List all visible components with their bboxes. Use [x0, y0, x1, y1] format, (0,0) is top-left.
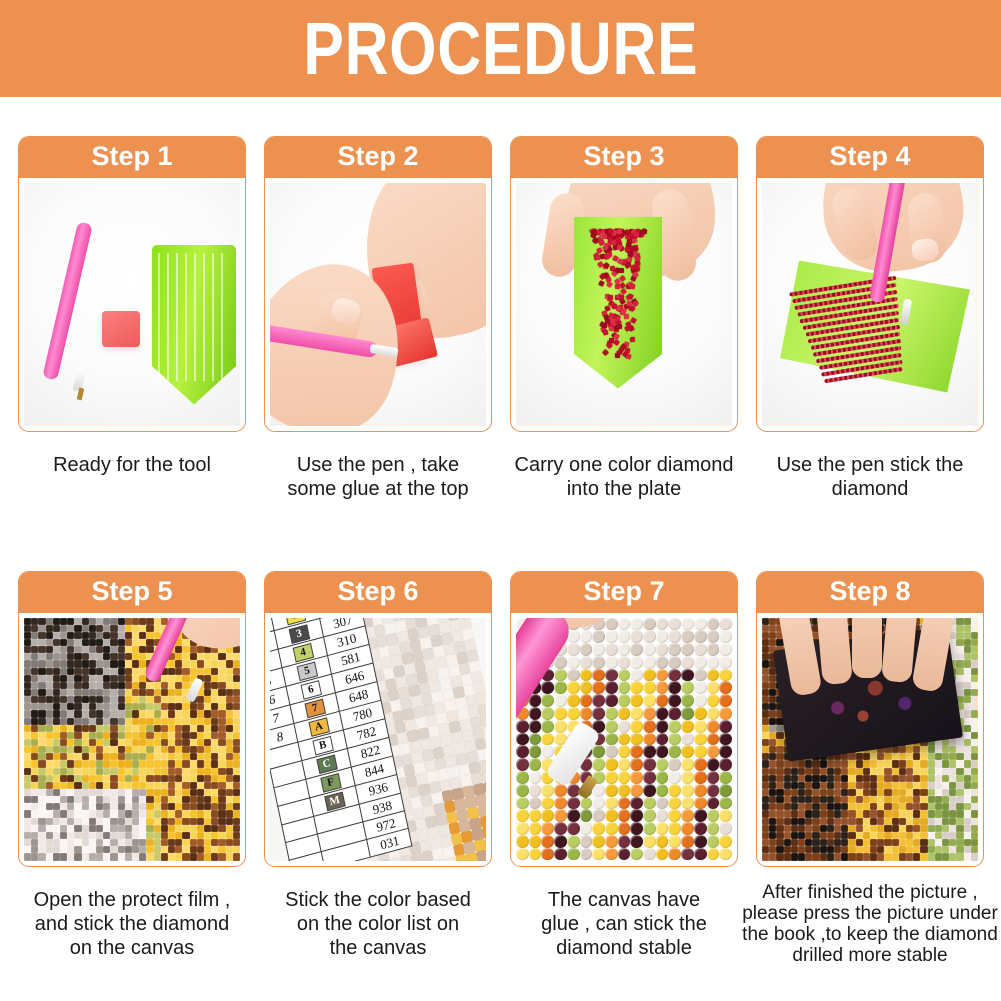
step-cell-1: Step 1 Ready for the tool	[18, 136, 246, 501]
step-label-2: Step 2	[337, 143, 418, 170]
step-cell-8: Step 8 After finished the picture , plea…	[756, 571, 984, 967]
step-label-7: Step 7	[583, 578, 664, 605]
step-photo-4	[762, 183, 978, 426]
step-label-4: Step 4	[829, 143, 910, 170]
step-card-5[interactable]: Step 5	[18, 571, 246, 867]
step-card-header-1: Step 1	[18, 136, 246, 178]
step-cell-4: Step 4 Use the pen stick the diamo	[756, 136, 984, 501]
step-cell-6: Step 6 No.SymbolDMC112230033307443105558…	[264, 571, 492, 967]
step-photo-7	[516, 618, 732, 861]
step-card-header-8: Step 8	[756, 571, 984, 613]
step-caption-1: Ready for the tool	[18, 453, 246, 477]
step-caption-2: Use the pen , take some glue at the top	[264, 453, 492, 502]
step-card-4[interactable]: Step 4	[756, 136, 984, 432]
step-card-header-2: Step 2	[264, 136, 492, 178]
procedure-infographic: PROCEDURE Step 1 Ready for	[0, 0, 1001, 1001]
step-photo-1	[24, 183, 240, 426]
page-title: PROCEDURE	[303, 12, 698, 86]
drill-rows-icon	[784, 263, 949, 395]
step-label-6: Step 6	[337, 578, 418, 605]
step-caption-4: Use the pen stick the diamond	[756, 453, 984, 502]
red-drills-icon	[582, 229, 652, 365]
glue-square-icon	[102, 311, 140, 347]
step-card-header-5: Step 5	[18, 571, 246, 613]
step-label-1: Step 1	[91, 143, 172, 170]
step-label-5: Step 5	[91, 578, 172, 605]
step-card-header-4: Step 4	[756, 136, 984, 178]
step-photo-6: No.SymbolDMC1122300333074431055581666467…	[270, 618, 486, 861]
step-photo-2	[270, 183, 486, 426]
step-cell-5: Step 5 Open the protect film , and stick…	[18, 571, 246, 967]
step-label-3: Step 3	[583, 143, 664, 170]
step-label-8: Step 8	[829, 578, 910, 605]
page-header: PROCEDURE	[0, 0, 1001, 97]
step-cell-3: Step 3 Carry one color diamond into the …	[510, 136, 738, 501]
step-caption-6: Stick the color based on the color list …	[264, 888, 492, 961]
step-caption-8: After finished the picture , please pres…	[740, 882, 1000, 967]
steps-row-bottom: Step 5 Open the protect film , and stick…	[0, 571, 1001, 967]
step-cell-2: Step 2 U	[264, 136, 492, 501]
steps-row-top: Step 1 Ready for the tool Step	[0, 136, 1001, 501]
diamond-canvas-icon	[24, 618, 240, 861]
step-photo-3	[516, 183, 732, 426]
step-card-8[interactable]: Step 8	[756, 571, 984, 867]
step-photo-8	[762, 618, 978, 861]
step-card-6[interactable]: Step 6 No.SymbolDMC112230033307443105558…	[264, 571, 492, 867]
step-card-7[interactable]: Step 7	[510, 571, 738, 867]
step-caption-5: Open the protect film , and stick the di…	[18, 888, 246, 961]
step-card-3[interactable]: Step 3	[510, 136, 738, 432]
hand-icon	[784, 618, 964, 690]
step-cell-7: Step 7 The canvas have glue , can stick …	[510, 571, 738, 967]
step-caption-3: Carry one color diamond into the plate	[510, 453, 738, 502]
step-card-header-6: Step 6	[264, 571, 492, 613]
step-photo-5	[24, 618, 240, 861]
color-chart-table: No.SymbolDMC1122300333074431055581666467…	[270, 618, 413, 861]
step-card-2[interactable]: Step 2	[264, 136, 492, 432]
step-caption-7: The canvas have glue , can stick the dia…	[510, 888, 738, 961]
step-card-1[interactable]: Step 1	[18, 136, 246, 432]
step-card-header-3: Step 3	[510, 136, 738, 178]
step-card-header-7: Step 7	[510, 571, 738, 613]
